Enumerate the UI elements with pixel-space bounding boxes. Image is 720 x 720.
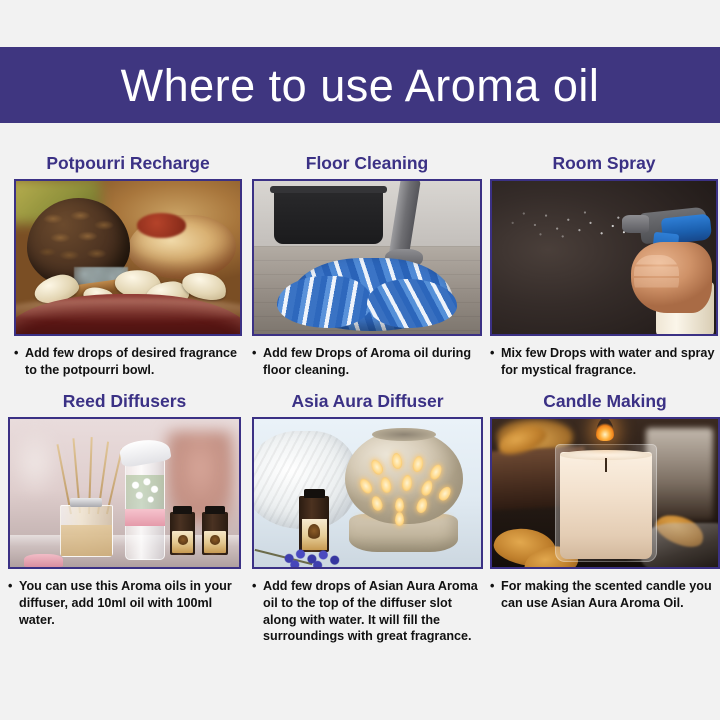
spray-bottle-photo (490, 179, 718, 336)
card-title-asia-aura-diffuser: Asia Aura Diffuser (252, 392, 483, 411)
card-caption-reed-diffusers: • You can use this Aroma oils in your di… (8, 578, 241, 628)
caption-text: Mix few Drops with water and spray for m… (501, 345, 718, 378)
bullet-icon: • (252, 345, 263, 362)
floor-mop-photo (252, 179, 482, 336)
card-title-floor-cleaning: Floor Cleaning (252, 154, 482, 173)
caption-text: Add few drops of Asian Aura Aroma oil to… (263, 578, 483, 645)
card-asia-aura-diffuser: Asia Aura Diffuser (252, 392, 483, 645)
header-banner: Where to use Aroma oil (0, 47, 720, 123)
caption-text: Add few Drops of Aroma oil during floor … (263, 345, 482, 378)
bullet-icon: • (490, 578, 501, 595)
cards-row-2: Reed Diffusers (0, 392, 720, 692)
card-caption-potpourri-recharge: • Add few drops of desired fragrance to … (14, 345, 242, 378)
card-title-reed-diffusers: Reed Diffusers (8, 392, 241, 411)
card-caption-asia-aura-diffuser: • Add few drops of Asian Aura Aroma oil … (252, 578, 483, 645)
bullet-icon: • (490, 345, 501, 362)
bullet-icon: • (14, 345, 25, 362)
infographic-page: Where to use Aroma oil Potpourri Recharg… (0, 0, 720, 720)
bullet-icon: • (252, 578, 263, 595)
card-title-potpourri-recharge: Potpourri Recharge (14, 154, 242, 173)
scented-candle-photo (490, 417, 720, 569)
caption-text: For making the scented candle you can us… (501, 578, 720, 611)
card-caption-candle-making: • For making the scented candle you can … (490, 578, 720, 611)
card-caption-floor-cleaning: • Add few Drops of Aroma oil during floo… (252, 345, 482, 378)
card-caption-room-spray: • Mix few Drops with water and spray for… (490, 345, 718, 378)
reed-diffuser-photo (8, 417, 241, 569)
ceramic-oil-burner-photo (252, 417, 483, 569)
card-floor-cleaning: Floor Cleaning • (252, 154, 482, 379)
bullet-icon: • (8, 578, 19, 595)
caption-text: Add few drops of desired fragrance to th… (25, 345, 242, 378)
card-title-candle-making: Candle Making (490, 392, 720, 411)
card-candle-making: Candle Making (490, 392, 720, 612)
potpourri-bowl-photo (14, 179, 242, 336)
card-potpourri-recharge: Potpourri Recharge (14, 154, 242, 379)
caption-text: You can use this Aroma oils in your diff… (19, 578, 241, 628)
card-title-room-spray: Room Spray (490, 154, 718, 173)
cards-grid: Potpourri Recharge (0, 130, 720, 692)
cards-row-1: Potpourri Recharge (0, 130, 720, 392)
card-room-spray: Room Spray • M (490, 154, 718, 379)
page-title: Where to use Aroma oil (121, 63, 600, 108)
card-reed-diffusers: Reed Diffusers (8, 392, 241, 628)
